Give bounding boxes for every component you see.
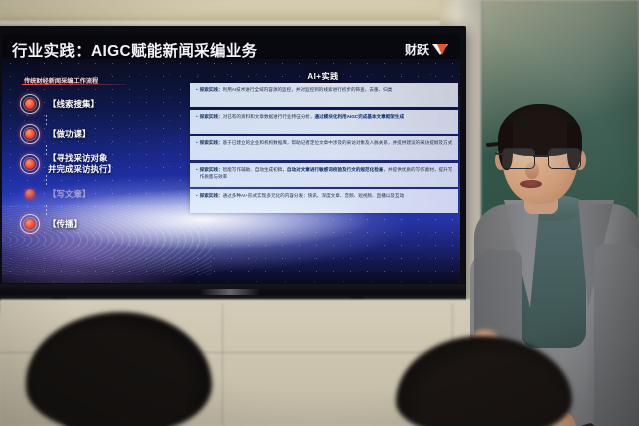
item-text: 基于已建立的企业和机构数据库，帮助记者定位文章中涉及的采访对象及人脉关系，并提供… bbox=[223, 140, 453, 145]
workflow-step-label: 【传播】 bbox=[48, 219, 82, 230]
slide-title: 行业实践：AIGC赋能新闻采编业务 bbox=[12, 39, 257, 61]
workflow-step-label: 【寻找采访对象 并完成采访执行】 bbox=[48, 153, 116, 174]
workflow-timeline: 【线索搜集】 【做功课】 【寻找采访对象 并完成采访执行】 bbox=[20, 89, 190, 239]
timeline-node-icon bbox=[20, 184, 40, 204]
item-text: 利用AI技术进行全域内容源的监控，并对监控到的线索进行初步的筛查、去重、归类 bbox=[223, 87, 393, 92]
item-label: 探索实践： bbox=[200, 167, 223, 172]
timeline-node-icon bbox=[20, 94, 40, 114]
ai-practice-heading-text: AI+实践 bbox=[198, 71, 448, 82]
presenter-mouth bbox=[520, 180, 542, 188]
workflow-step-label: 【写文章】 bbox=[48, 189, 91, 200]
ai-practice-item: •探索实践：基于已建立的企业和机构数据库，帮助记者定位文章中涉及的采访对象及人脉… bbox=[190, 136, 458, 160]
item-text: 通过多种AI+形式实现多元化的内容分发：快讯、深度文章、音频、短视频、直播以及互… bbox=[223, 193, 405, 198]
bullet-icon: • bbox=[196, 113, 198, 120]
item-emphasis: 自动对文章进行敏感词校验及行文的规范化检查 bbox=[287, 167, 383, 172]
cabinet-door-seam bbox=[222, 304, 223, 426]
tv-brand-badge bbox=[200, 289, 260, 295]
ai-practice-item: •探索实践：通过多种AI+形式实现多元化的内容分发：快讯、深度文章、音频、短视频… bbox=[190, 189, 458, 213]
item-text: 对已有的资料和文章数据进行行业特征分析， bbox=[223, 114, 315, 119]
bullet-icon: • bbox=[196, 86, 198, 93]
workflow-heading-rule bbox=[22, 84, 126, 85]
wall-upper-panel bbox=[0, 0, 466, 22]
ai-practice-item: •探索实践：对已有的资料和文章数据进行行业特征分析，通过模块化利用AIGC完成基… bbox=[190, 110, 458, 134]
bullet-icon: • bbox=[196, 166, 198, 180]
item-label: 探索实践： bbox=[200, 114, 223, 119]
item-label: 探索实践： bbox=[200, 193, 223, 198]
bullet-icon: • bbox=[196, 192, 198, 199]
timeline-node-icon bbox=[20, 214, 40, 234]
presenter-glasses-icon bbox=[498, 148, 584, 168]
brand-logo-mark-icon bbox=[432, 44, 448, 56]
presentation-slide: 行业实践：AIGC赋能新闻采编业务 财跃 传统财经新闻采编工作流程 【线索搜集】 bbox=[2, 35, 460, 283]
item-text: 智能写作辅助、自动生成初稿， bbox=[223, 167, 287, 172]
ai-practice-list: •探索实践：利用AI技术进行全域内容源的监控，并对监控到的线索进行初步的筛查、去… bbox=[190, 83, 458, 213]
workflow-step: 【传播】 bbox=[20, 209, 190, 239]
brand-logo-text: 财跃 bbox=[405, 41, 429, 58]
brand-logo: 财跃 bbox=[405, 41, 448, 58]
item-label: 探索实践： bbox=[200, 140, 223, 145]
ai-practice-item: •探索实践：智能写作辅助、自动生成初稿，自动对文章进行敏感词校验及行文的规范化检… bbox=[190, 163, 458, 187]
presentation-photo-scene: 行业实践：AIGC赋能新闻采编业务 财跃 传统财经新闻采编工作流程 【线索搜集】 bbox=[0, 0, 639, 426]
item-label: 探索实践： bbox=[200, 87, 223, 92]
ai-practice-item: •探索实践：利用AI技术进行全域内容源的监控，并对监控到的线索进行初步的筛查、去… bbox=[190, 83, 458, 107]
bullet-icon: • bbox=[196, 139, 198, 146]
workflow-step-label: 【线索搜集】 bbox=[48, 99, 99, 110]
workflow-step-label: 【做功课】 bbox=[48, 129, 91, 140]
timeline-node-icon bbox=[20, 154, 40, 174]
item-emphasis: 通过模块化利用AIGC完成基本文章框架生成 bbox=[314, 114, 404, 119]
timeline-node-icon bbox=[20, 124, 40, 144]
